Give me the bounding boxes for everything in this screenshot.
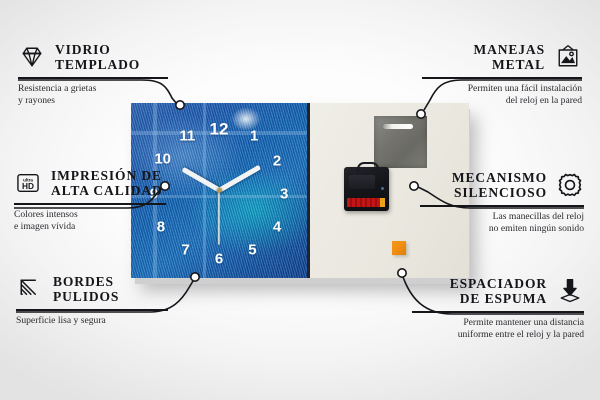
mechanism-body-detail — [349, 175, 375, 189]
callout-title: MECANISMO SILENCIOSO — [452, 170, 547, 200]
diamond-icon — [18, 43, 46, 71]
gear-icon — [556, 171, 584, 199]
callout-rule — [18, 77, 168, 79]
callout-rule — [420, 205, 584, 207]
callout-subtitle: Superficie lisa y segura — [16, 315, 168, 328]
quartz-mechanism — [344, 167, 389, 211]
polished-edges-icon — [16, 275, 44, 303]
callout-manejas-metal[interactable]: MANEJAS METAL Permiten una fácil instala… — [422, 42, 582, 108]
clock-numeral-4: 4 — [273, 220, 281, 235]
clock-center-pivot — [217, 188, 222, 193]
clock-numeral-10: 10 — [154, 152, 171, 167]
ultra-hd-icon: ultra HD — [14, 169, 42, 197]
foam-spacer-icon — [556, 277, 584, 305]
callout-subtitle: Las manecillas del reloj no emiten ningú… — [420, 211, 584, 236]
callout-subtitle: Resistencia a grietas y rayones — [18, 83, 168, 108]
print-pane-line — [203, 103, 206, 278]
callout-title: VIDRIO TEMPLADO — [55, 42, 140, 72]
battery — [347, 198, 385, 207]
clock-numeral-5: 5 — [248, 243, 256, 258]
foam-spacer — [392, 241, 406, 255]
clock-numeral-6: 6 — [215, 251, 223, 266]
callout-rule — [422, 77, 582, 79]
mechanism-marking — [381, 187, 384, 190]
callout-subtitle: Permite mantener una distancia uniforme … — [412, 317, 584, 342]
callout-subtitle: Permiten una fácil instalación del reloj… — [422, 83, 582, 108]
callout-bordes-pulidos[interactable]: BORDES PULIDOS Superficie lisa y segura — [16, 274, 168, 327]
hanger-slot — [383, 124, 413, 129]
callout-rule — [16, 309, 168, 311]
wall-hanger-icon — [554, 43, 582, 71]
callout-rule — [412, 311, 584, 313]
mechanism-hook — [357, 162, 379, 172]
clock-numeral-2: 2 — [273, 153, 281, 168]
callout-impresion-alta-calidad[interactable]: ultra HD IMPRESIÓN DE ALTA CALIDAD Color… — [14, 168, 166, 234]
callout-title: IMPRESIÓN DE ALTA CALIDAD — [51, 168, 163, 198]
clock-numeral-1: 1 — [250, 129, 258, 144]
metal-hanger-plate — [374, 116, 427, 168]
callout-vidrio-templado[interactable]: VIDRIO TEMPLADO Resistencia a grietas y … — [18, 42, 168, 108]
clock-numeral-12: 12 — [210, 121, 229, 138]
clock-numeral-3: 3 — [280, 187, 288, 202]
callout-title: MANEJAS METAL — [473, 42, 545, 72]
hour-hand — [182, 168, 221, 193]
callout-subtitle: Colores intensos e imagen vívida — [14, 209, 166, 234]
infographic-canvas: 12 1 2 3 4 5 6 7 8 9 10 11 — [0, 0, 600, 400]
callout-espaciador-espuma[interactable]: ESPACIADOR DE ESPUMA Permite mantener un… — [412, 276, 584, 342]
callout-mecanismo-silencioso[interactable]: MECANISMO SILENCIOSO Las manecillas del … — [420, 170, 584, 236]
callout-title: BORDES PULIDOS — [53, 274, 119, 304]
callout-title: ESPACIADOR DE ESPUMA — [450, 276, 547, 306]
clock-numeral-7: 7 — [181, 243, 189, 258]
clock-numeral-11: 11 — [179, 129, 195, 144]
second-hand — [218, 191, 220, 245]
svg-text:HD: HD — [22, 181, 34, 191]
battery-tip — [380, 198, 385, 207]
product-photo: 12 1 2 3 4 5 6 7 8 9 10 11 — [131, 103, 466, 278]
callout-rule — [14, 203, 166, 205]
minute-hand — [218, 165, 261, 192]
